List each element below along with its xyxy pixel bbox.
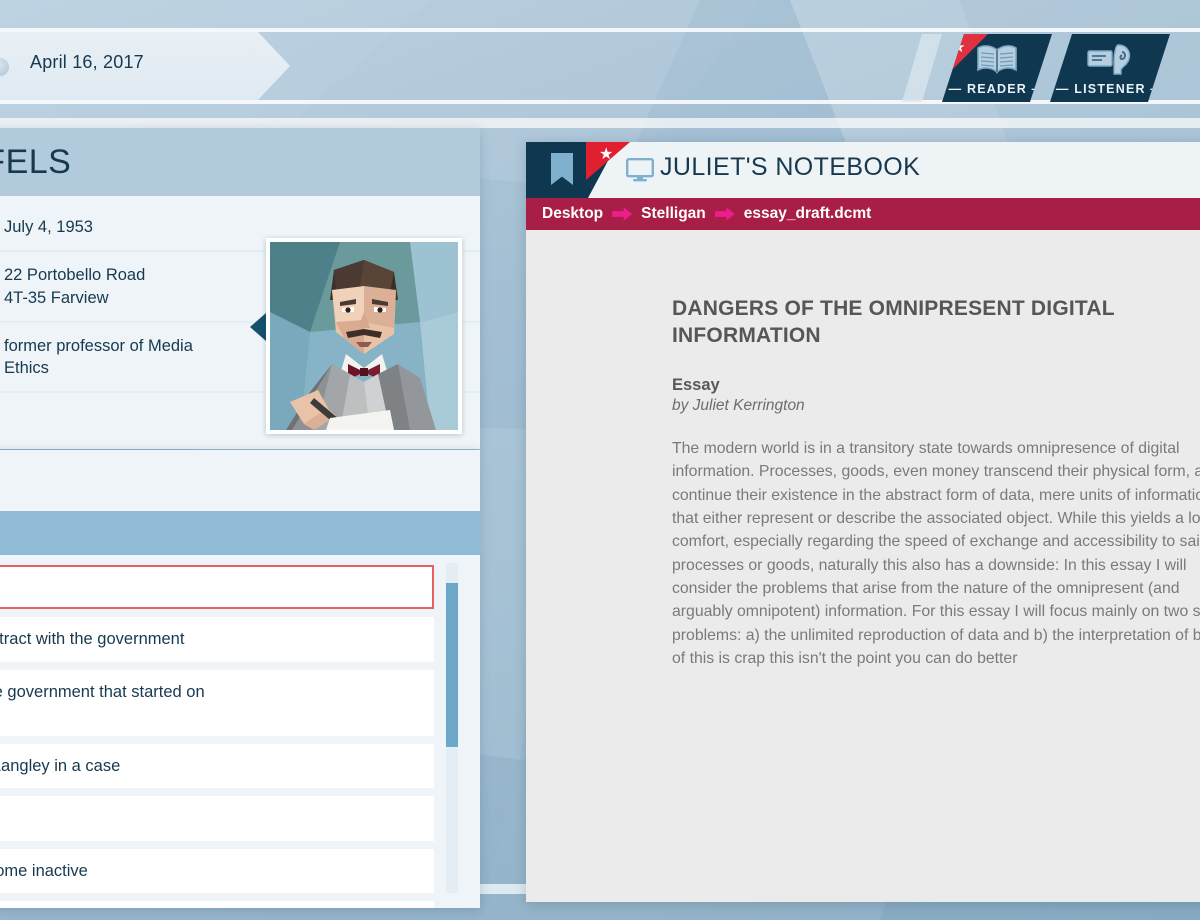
list-item[interactable]: erman bbox=[0, 796, 434, 840]
star-badge-icon: ★ bbox=[599, 147, 613, 163]
breadcrumb-item-file[interactable]: essay_draft.dcmt bbox=[744, 205, 872, 223]
current-date: April 16, 2017 bbox=[30, 52, 144, 73]
character-dossier-panel: AM GOLDFELS h July 4, 1953 22 Portobello… bbox=[0, 128, 480, 908]
document-kind: Essay bbox=[672, 376, 1200, 395]
notebook-window: ★ JULIET'S NOTEBOOK Desktop Stelligan es… bbox=[526, 142, 1200, 902]
list-item[interactable]: university in fall 2016 bbox=[0, 901, 434, 908]
profile-title: OFILE bbox=[0, 450, 480, 511]
ear-listening-icon bbox=[1050, 43, 1170, 75]
hud-rule-top bbox=[0, 28, 1200, 32]
shelf-strip-upper bbox=[0, 118, 1200, 128]
character-name: AM GOLDFELS bbox=[0, 143, 71, 182]
list-item[interactable]: Greiblingen, Germany bbox=[0, 565, 434, 609]
chevron-right-icon bbox=[715, 208, 735, 221]
dossier-header: AM GOLDFELS bbox=[0, 128, 480, 196]
breadcrumb-item-stelligan[interactable]: Stelligan bbox=[641, 205, 706, 223]
scrollbar-thumb[interactable] bbox=[446, 583, 458, 747]
notebook-title: JULIET'S NOTEBOOK bbox=[660, 153, 920, 182]
breadcrumb: Desktop Stelligan essay_draft.dcmt bbox=[526, 198, 1200, 230]
monitor-screen-icon bbox=[626, 158, 654, 182]
notebook-titlebar: ★ JULIET'S NOTEBOOK bbox=[526, 142, 1200, 198]
portrait-notch bbox=[250, 313, 266, 341]
document-page: DANGERS OF THE OMNIPRESENT DIGITAL INFOR… bbox=[526, 230, 1200, 902]
dossier-identity-card: AM GOLDFELS h July 4, 1953 22 Portobello… bbox=[0, 128, 480, 449]
profile-fact-list: Greiblingen, Germany breach of a working… bbox=[0, 555, 480, 908]
list-item[interactable]: causing Thought to become inactive bbox=[0, 849, 434, 893]
profile-section-header: OUND bbox=[0, 511, 480, 555]
dossier-profile-card: OFILE OUND Greiblingen, Germany breach o… bbox=[0, 450, 480, 908]
list-item[interactable]: ended legally by Josef Langley in a case bbox=[0, 744, 434, 788]
list-item[interactable]: breach of a working contract with the go… bbox=[0, 617, 434, 661]
document-body-text: The modern world is in a transitory stat… bbox=[672, 437, 1200, 671]
document-title: DANGERS OF THE OMNIPRESENT DIGITAL INFOR… bbox=[672, 296, 1152, 350]
breadcrumb-item-desktop[interactable]: Desktop bbox=[542, 205, 603, 223]
chevron-right-icon bbox=[612, 208, 632, 221]
avatar bbox=[266, 238, 462, 434]
list-item[interactable]: oyment contract with the government that… bbox=[0, 670, 434, 737]
document-byline: by Juliet Kerrington bbox=[672, 397, 1200, 415]
